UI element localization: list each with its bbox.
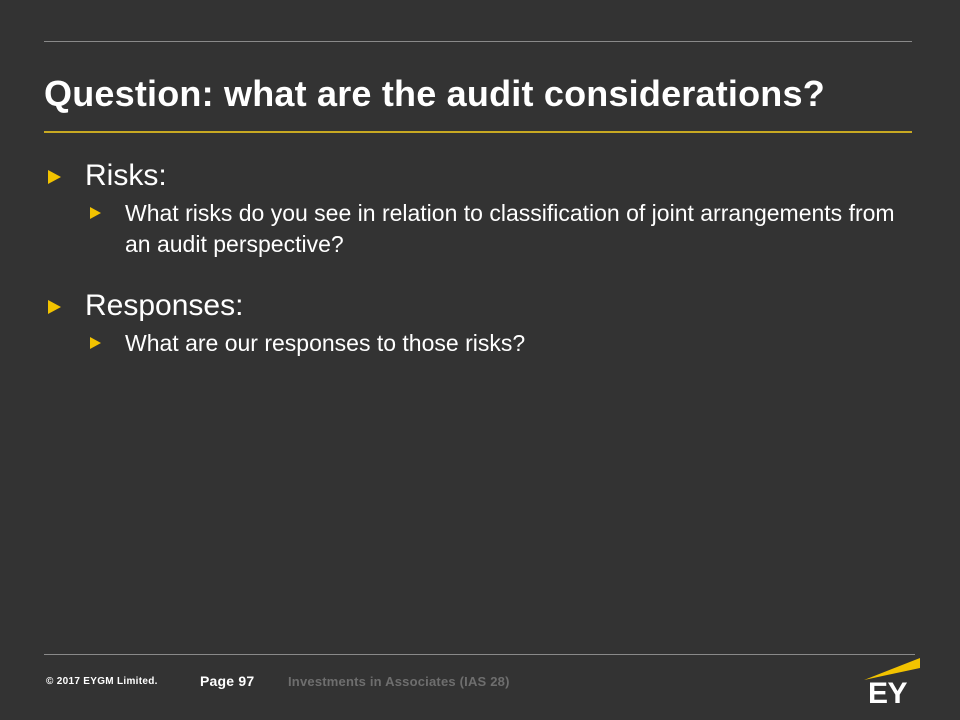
slide-body: Risks: What risks do you see in relation… bbox=[44, 158, 924, 369]
bullet-heading-label: Responses: bbox=[85, 289, 243, 322]
triangle-bullet-icon bbox=[90, 207, 101, 219]
title-bottom-gold-divider bbox=[44, 131, 912, 133]
ey-wordmark: EY bbox=[868, 677, 908, 708]
bullet-group-risks-items: What risks do you see in relation to cla… bbox=[44, 198, 924, 260]
footer-section-label: Investments in Associates (IAS 28) bbox=[288, 674, 510, 689]
triangle-bullet-icon bbox=[48, 300, 61, 314]
bullet-group-responses-items: What are our responses to those risks? bbox=[44, 328, 924, 359]
bullet-group-risks-heading: Risks: bbox=[44, 158, 924, 194]
group-spacer bbox=[44, 270, 924, 288]
list-item: What risks do you see in relation to cla… bbox=[44, 198, 915, 260]
footer-divider bbox=[44, 654, 915, 655]
footer-page-number: Page 97 bbox=[200, 673, 254, 689]
bullet-heading-label: Risks: bbox=[85, 159, 167, 192]
slide: Question: what are the audit considerati… bbox=[0, 0, 960, 720]
title-top-divider bbox=[44, 41, 912, 42]
list-item-label: What are our responses to those risks? bbox=[125, 330, 525, 356]
ey-logo-icon: EY bbox=[862, 656, 924, 708]
page-title: Question: what are the audit considerati… bbox=[44, 72, 924, 116]
footer-copyright: © 2017 EYGM Limited. bbox=[46, 676, 158, 687]
triangle-bullet-icon bbox=[48, 170, 61, 184]
list-item-label: What risks do you see in relation to cla… bbox=[125, 200, 895, 257]
triangle-bullet-icon bbox=[90, 337, 101, 349]
list-item: What are our responses to those risks? bbox=[44, 328, 915, 359]
bullet-group-responses-heading: Responses: bbox=[44, 288, 924, 324]
ey-logo: EY bbox=[862, 656, 924, 708]
